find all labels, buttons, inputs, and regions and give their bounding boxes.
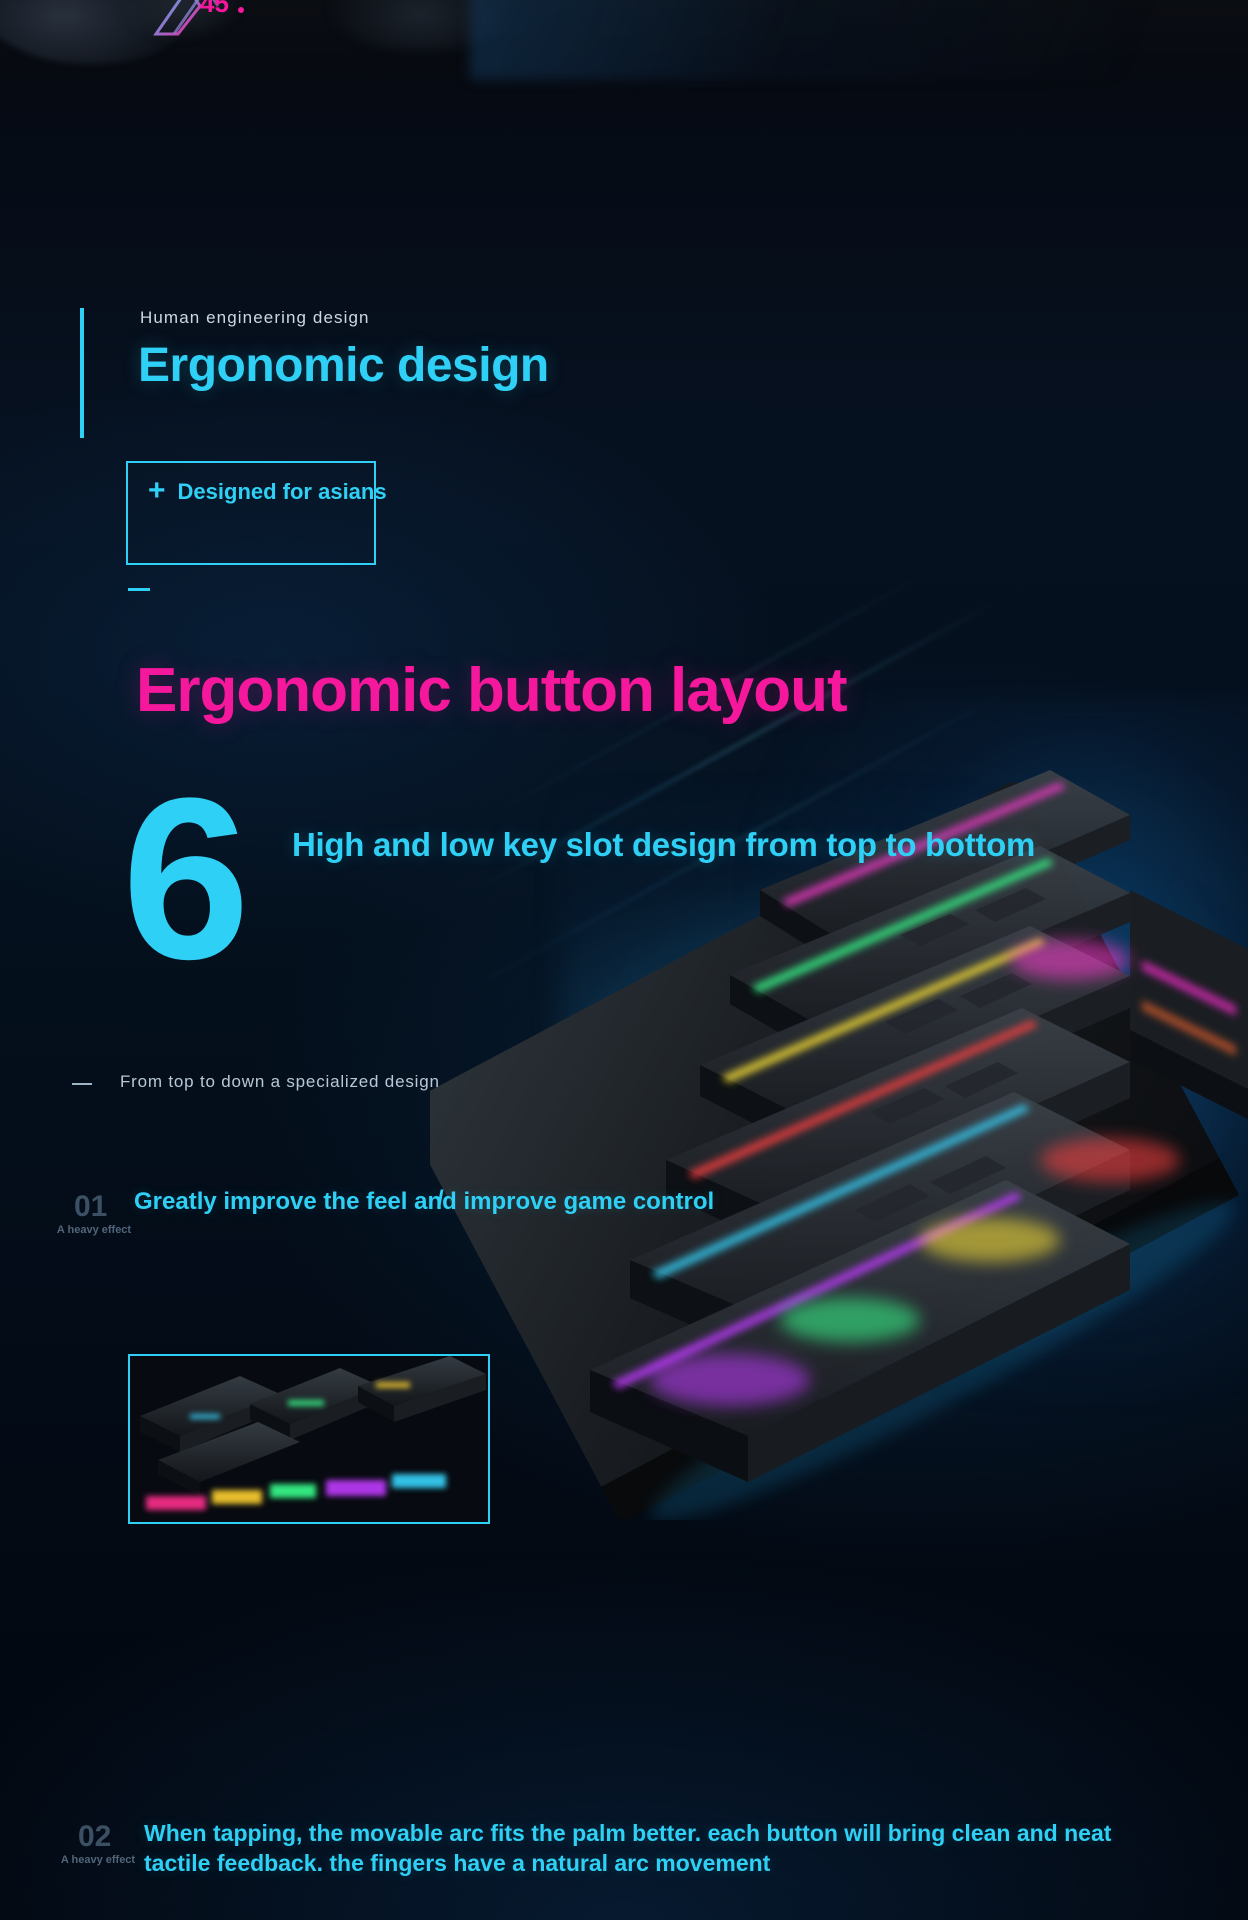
feature-description: High and low key slot design from top to… (292, 820, 1035, 870)
item-01-number: 01 (74, 1190, 107, 1224)
item-02-number: 02 (78, 1820, 111, 1854)
product-feature-page: 45 (0, 0, 1248, 1920)
brand-logo-text: 45 (200, 0, 229, 18)
heading-accent-bar (80, 308, 84, 438)
subnote-text: From top to down a specialized design (120, 1072, 440, 1092)
big-number-six-text: 6 (122, 790, 250, 990)
designed-for-badge-label: Designed for asians (178, 478, 387, 506)
keyboard-thumbnail (128, 1354, 490, 1524)
item-01-sublabel: A heavy effect (54, 1224, 134, 1237)
subnote-dash (72, 1083, 92, 1085)
designed-for-badge: + Designed for asians (148, 478, 387, 506)
badge-underline-dash (128, 588, 150, 591)
section-heading-pink: Ergonomic button layout (136, 655, 847, 726)
page-title: Ergonomic design (138, 338, 549, 393)
keyboard-product-image (430, 760, 1248, 1520)
item-02-body: When tapping, the movable arc fits the p… (144, 1818, 1184, 1878)
item-01-slash: / (437, 1186, 444, 1214)
brand-logo-icon: 45 (148, 0, 258, 46)
big-number-six: 6 (122, 790, 282, 990)
plus-icon: + (148, 478, 166, 504)
item-02-sublabel: A heavy effect (58, 1854, 138, 1867)
item-01-body: Greatly improve the feel and improve gam… (134, 1188, 714, 1216)
eyebrow-text: Human engineering design (140, 308, 370, 328)
background-top-sheen (470, 0, 1248, 80)
